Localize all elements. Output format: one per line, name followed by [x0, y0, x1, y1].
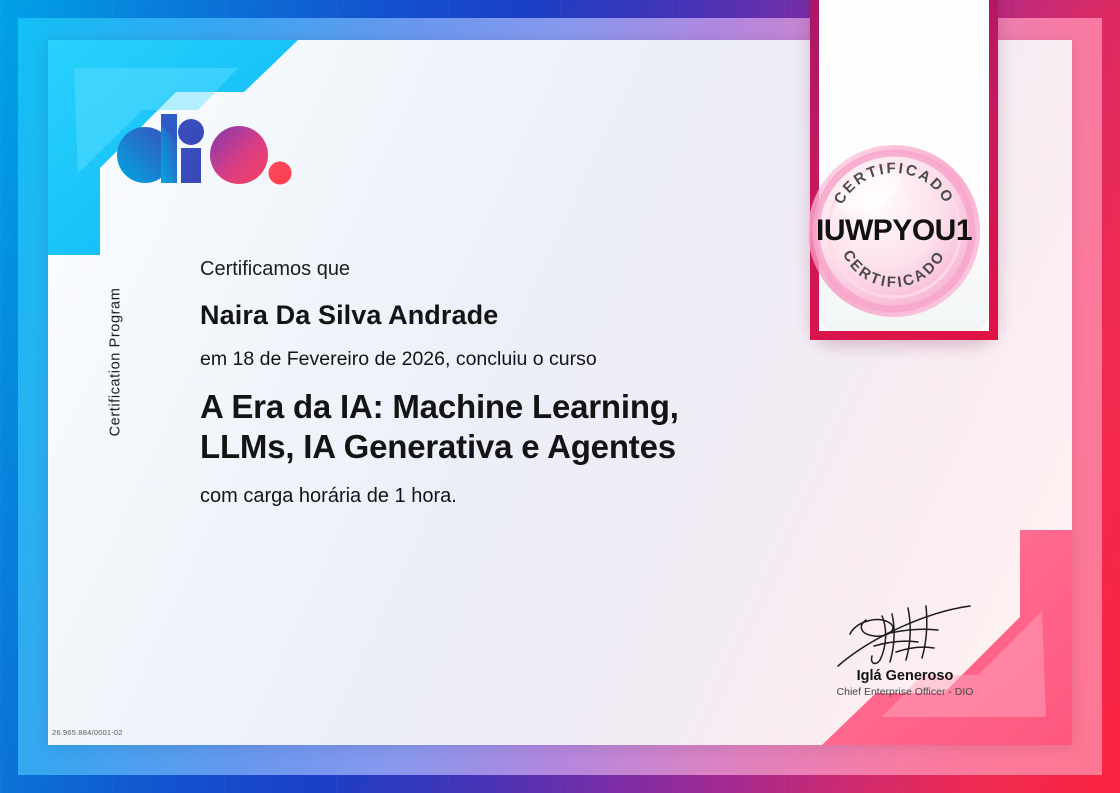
dio-logo	[115, 100, 295, 190]
course-title-line-2: LLMs, IA Generativa e Agentes	[200, 427, 810, 467]
certification-program-text: Certification Program	[107, 288, 123, 437]
certificate-body: Certificamos que Naira Da Silva Andrade …	[200, 256, 810, 508]
seal-code: IUWPYOU1	[806, 214, 982, 248]
completion-date-line: em 18 de Fevereiro de 2026, concluiu o c…	[200, 348, 810, 371]
certificate-seal: CERTIFICADO CERTIFICADO IUWPYOU1	[806, 143, 982, 319]
signature-name: Iglá Generoso	[800, 668, 1010, 684]
course-title-line-1: A Era da IA: Machine Learning,	[200, 387, 810, 427]
signature-role: Chief Enterprise Officer - DIO	[800, 686, 1010, 698]
company-registration-number: 26.965.884/0001-02	[52, 728, 123, 737]
course-title: A Era da IA: Machine Learning, LLMs, IA …	[200, 387, 810, 468]
signature-block: Iglá Generoso Chief Enterprise Officer -…	[800, 604, 1010, 698]
signature-mark	[830, 604, 980, 674]
intro-text: Certificamos que	[200, 256, 810, 283]
workload-text: com carga horária de 1 hora.	[200, 485, 810, 508]
recipient-name: Naira Da Silva Andrade	[200, 300, 810, 331]
certificate-canvas: CERTIFICADO CERTIFICADO IUWPYOU1	[0, 0, 1120, 793]
certification-program-label: Certification Program	[103, 272, 127, 452]
